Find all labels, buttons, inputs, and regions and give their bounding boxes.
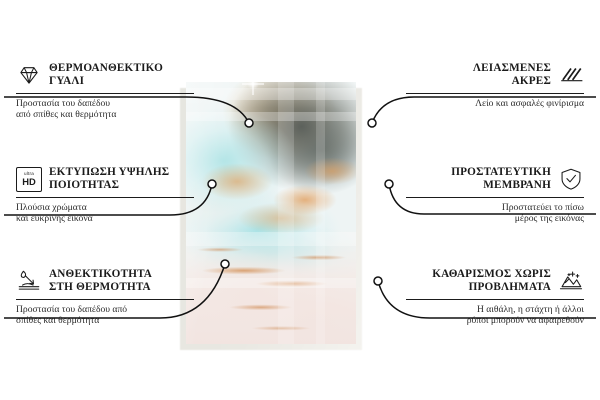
polished-edges-icon (558, 62, 584, 88)
feature-description: Προστατεύει το πίσω μέρος της εικόνας (406, 198, 584, 225)
feature-header: ΠΡΟΣΤΑΤΕΥΤΙΚΗ ΜΕΜΒΡΑΝΗ (406, 166, 584, 193)
product-image-canvas (186, 82, 356, 344)
feature-title: ΚΑΘΑΡΙΣΜΟΣ ΧΩΡΙΣ ΠΡΟΒΛΗΜΑΤΑ (432, 268, 551, 295)
connector-dot-right-1 (368, 119, 376, 127)
feature-title: ΑΝΘΕΚΤΙΚΟΤΗΤΑ ΣΤΗ ΘΕΡΜΟΤΗΤΑ (49, 268, 152, 295)
ultra-hd-icon: ultra HD (16, 167, 42, 192)
feature-desc-line2: από σπίθες και θερμότητα (16, 109, 194, 121)
feature-desc-line2: ρύποι μπορούν να αφαιρεθούν (406, 315, 584, 327)
feature-header: ΑΝΘΕΚΤΙΚΟΤΗΤΑ ΣΤΗ ΘΕΡΜΟΤΗΤΑ (16, 268, 194, 295)
feature-title-line2: ΠΡΟΒΛΗΜΑΤΑ (432, 281, 551, 294)
feature-high-quality-print: ultra HD ΕΚΤΥΠΩΣΗ ΥΨΗΛΗΣ ΠΟΙΟΤΗΤΑΣ Πλούσ… (16, 166, 194, 225)
reflection-band (186, 112, 356, 121)
feature-title: ΠΡΟΣΤΑΤΕΥΤΙΚΗ ΜΕΜΒΡΑΝΗ (451, 166, 551, 193)
ultra-hd-icon-main-text: HD (22, 177, 36, 186)
feature-desc-line1: Λείο και ασφαλές φινίρισμα (406, 98, 584, 110)
feature-desc-line1: Πλούσια χρώματα (16, 202, 194, 214)
feature-desc-line2: μέρος της εικόνας (406, 213, 584, 225)
feature-description: Πλούσια χρώματα και ευκρινής εικόνα (16, 198, 194, 225)
reflection-band (186, 88, 356, 100)
feature-title-line2: ΜΕΜΒΡΑΝΗ (451, 179, 551, 192)
feature-header: ΘΕΡΜΟΑΝΘΕΚΤΙΚΟ ΓΥΑΛΙ (16, 62, 194, 89)
feature-title-line1: ΕΚΤΥΠΩΣΗ ΥΨΗΛΗΣ (49, 166, 169, 179)
feature-title-line1: ΛΕΙΑΣΜΕΝΕΣ (473, 62, 551, 75)
feature-desc-line1: Προστασία του δαπέδου (16, 98, 194, 110)
feature-description: Προστασία του δαπέδου από σπίθες και θερ… (16, 94, 194, 121)
infographic-stage: ΘΕΡΜΟΑΝΘΕΚΤΙΚΟ ΓΥΑΛΙ Προστασία του δαπέδ… (0, 0, 600, 400)
connector-dot-right-3 (374, 277, 382, 285)
product-image (186, 82, 356, 344)
feature-desc-line1: Προστασία του δαπέδου από (16, 304, 194, 316)
diamond-icon (16, 62, 42, 88)
feature-title-line2: ΣΤΗ ΘΕΡΜΟΤΗΤΑ (49, 281, 152, 294)
feature-title: ΕΚΤΥΠΩΣΗ ΥΨΗΛΗΣ ΠΟΙΟΤΗΤΑΣ (49, 166, 169, 193)
reflection-band-vertical (278, 82, 294, 344)
feature-title-line1: ΘΕΡΜΟΑΝΘΕΚΤΙΚΟ (49, 62, 163, 75)
feature-title-line1: ΑΝΘΕΚΤΙΚΟΤΗΤΑ (49, 268, 152, 281)
glass-reflection-overlay (186, 82, 356, 344)
easy-cleaning-sparkle-icon (558, 268, 584, 294)
feature-easy-cleaning: ΚΑΘΑΡΙΣΜΟΣ ΧΩΡΙΣ ΠΡΟΒΛΗΜΑΤΑ Η αιθάλη, η … (406, 268, 584, 327)
feature-protective-film: ΠΡΟΣΤΑΤΕΥΤΙΚΗ ΜΕΜΒΡΑΝΗ Προστατεύει το πί… (406, 166, 584, 225)
feature-description: Η αιθάλη, η στάχτη ή άλλοι ρύποι μπορούν… (406, 300, 584, 327)
feature-header: ΛΕΙΑΣΜΕΝΕΣ ΑΚΡΕΣ (406, 62, 584, 89)
feature-heat-resistance: ΑΝΘΕΚΤΙΚΟΤΗΤΑ ΣΤΗ ΘΕΡΜΟΤΗΤΑ Προστασία το… (16, 268, 194, 327)
feature-title-line1: ΠΡΟΣΤΑΤΕΥΤΙΚΗ (451, 166, 551, 179)
feature-desc-line1: Η αιθάλη, η στάχτη ή άλλοι (406, 304, 584, 316)
feature-header: ultra HD ΕΚΤΥΠΩΣΗ ΥΨΗΛΗΣ ΠΟΙΟΤΗΤΑΣ (16, 166, 194, 193)
feature-description: Προστασία του δαπέδου από σπίθες και θερ… (16, 300, 194, 327)
connector-dot-right-2 (385, 180, 393, 188)
shield-check-icon (558, 166, 584, 192)
feature-title-line1: ΚΑΘΑΡΙΣΜΟΣ ΧΩΡΙΣ (432, 268, 551, 281)
reflection-band (186, 278, 356, 288)
corner-sparkle-icon (242, 73, 264, 95)
feature-title-line2: ΑΚΡΕΣ (473, 75, 551, 88)
feature-title-line2: ΠΟΙΟΤΗΤΑΣ (49, 179, 169, 192)
feature-title-line2: ΓΥΑΛΙ (49, 75, 163, 88)
flame-heat-resistance-icon (16, 268, 42, 294)
feature-desc-line2: σπίθες και θερμότητα (16, 315, 194, 327)
feature-desc-line1: Προστατεύει το πίσω (406, 202, 584, 214)
reflection-band (186, 232, 356, 246)
feature-desc-line2: και ευκρινής εικόνα (16, 213, 194, 225)
feature-title: ΘΕΡΜΟΑΝΘΕΚΤΙΚΟ ΓΥΑΛΙ (49, 62, 163, 89)
feature-header: ΚΑΘΑΡΙΣΜΟΣ ΧΩΡΙΣ ΠΡΟΒΛΗΜΑΤΑ (406, 268, 584, 295)
feature-heat-resistant-glass: ΘΕΡΜΟΑΝΘΕΚΤΙΚΟ ΓΥΑΛΙ Προστασία του δαπέδ… (16, 62, 194, 121)
feature-description: Λείο και ασφαλές φινίρισμα (406, 94, 584, 110)
feature-title: ΛΕΙΑΣΜΕΝΕΣ ΑΚΡΕΣ (473, 62, 551, 89)
reflection-band-vertical (316, 82, 325, 344)
feature-polished-edges: ΛΕΙΑΣΜΕΝΕΣ ΑΚΡΕΣ Λείο και ασφαλές φινίρι… (406, 62, 584, 109)
